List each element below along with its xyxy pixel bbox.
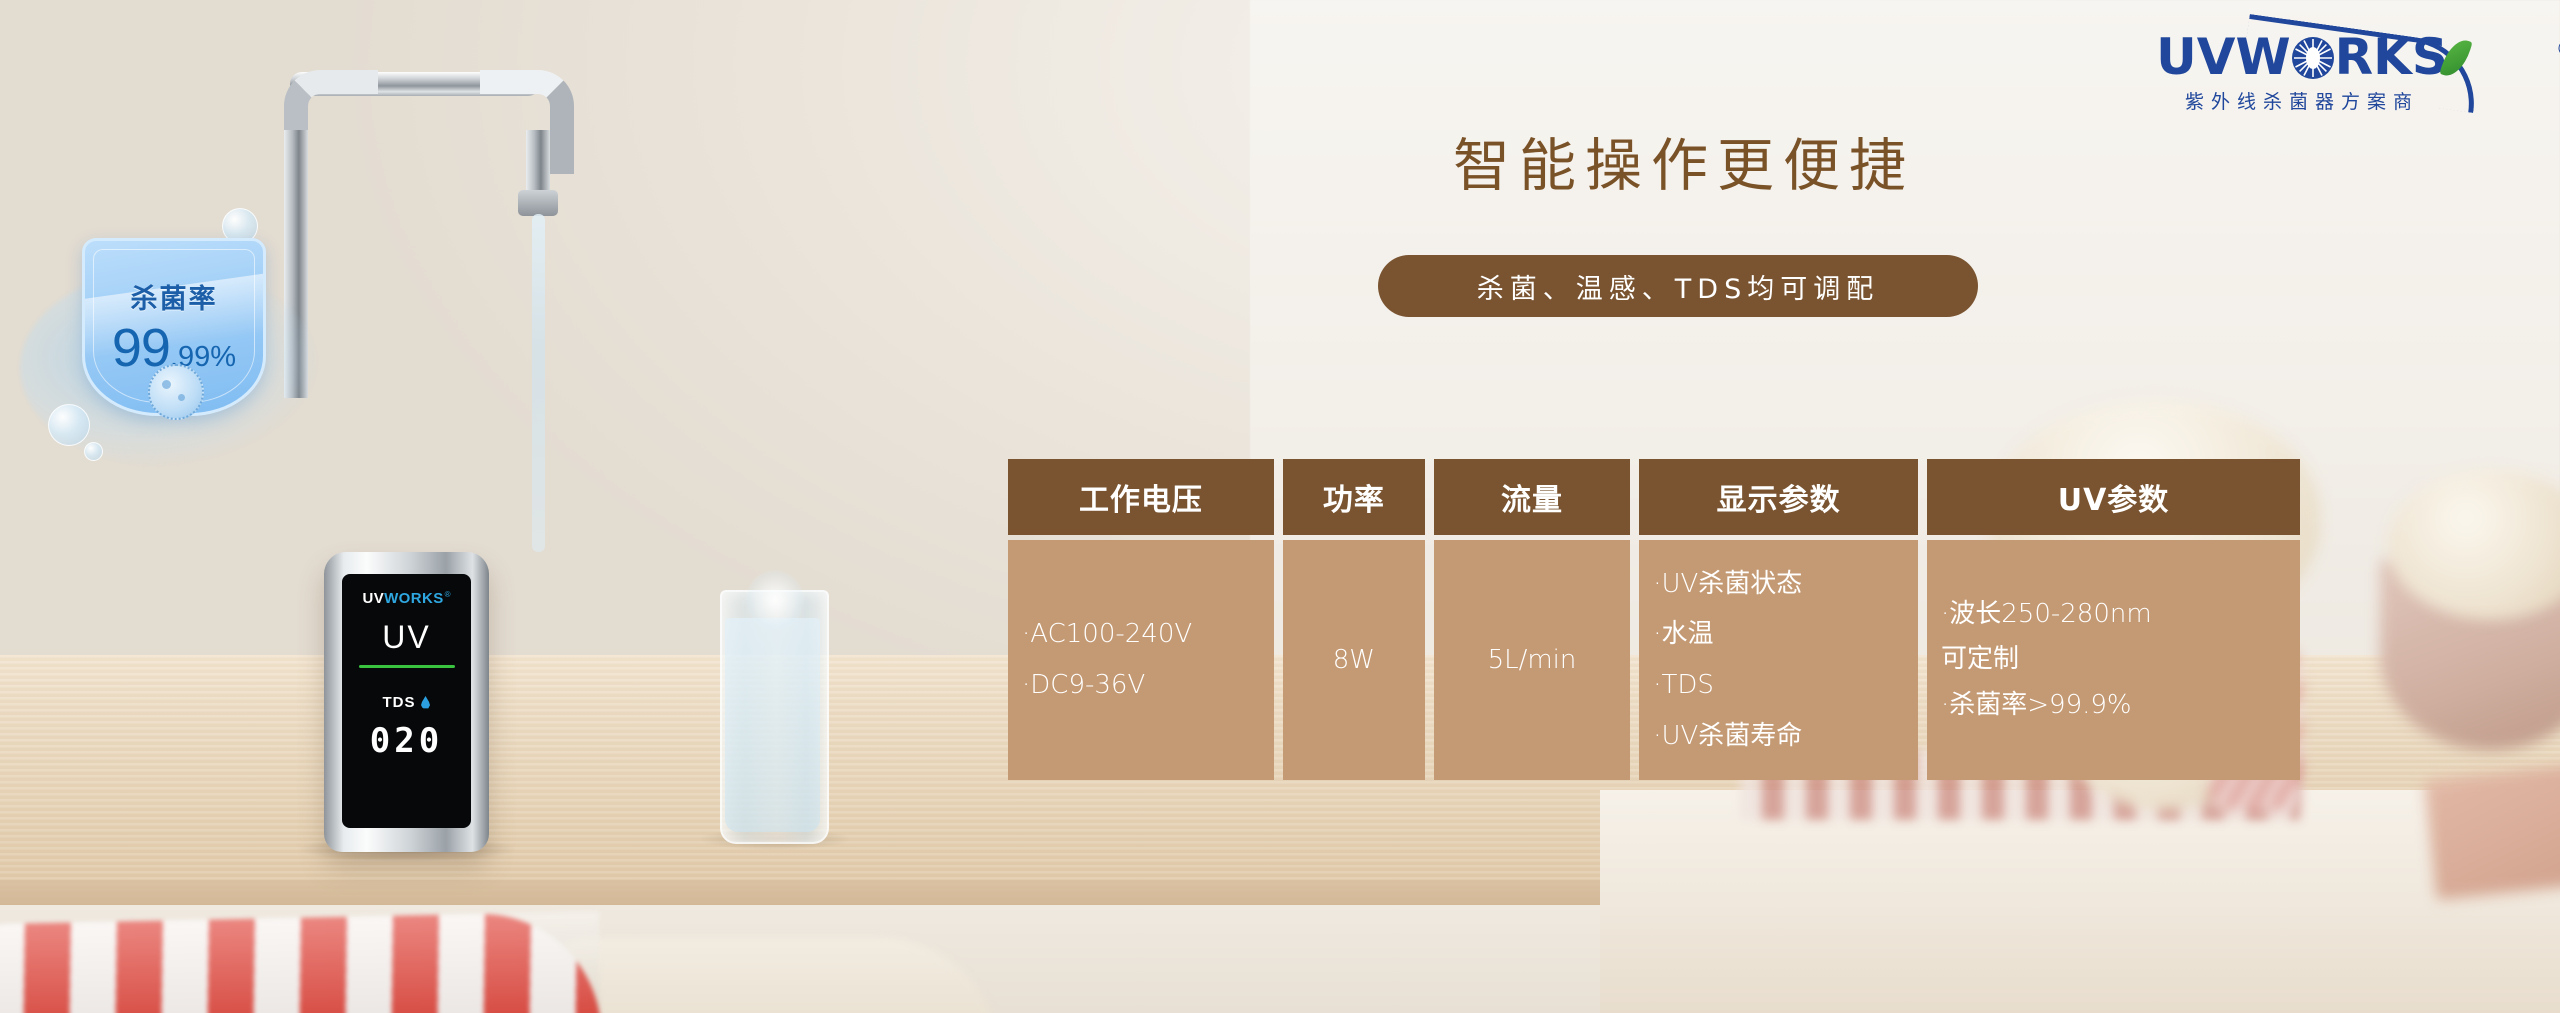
water-splash-icon bbox=[746, 570, 804, 630]
page-title: 智能操作更便捷 bbox=[1374, 120, 1994, 202]
brand-logo-text: UVWRKS bbox=[2156, 28, 2448, 86]
germ-icon bbox=[148, 364, 204, 420]
spec-line: ·波长250-280nm bbox=[1941, 592, 2286, 638]
spec-table: 工作电压 ·AC100-240V ·DC9-36V 功率 8W 流量 5L/mi… bbox=[1008, 459, 2300, 780]
spec-body: ·AC100-240V ·DC9-36V bbox=[1008, 540, 1274, 780]
device-brand-uv: UV bbox=[362, 590, 384, 607]
device-tds-value: 020 bbox=[370, 721, 443, 761]
water-stream-icon bbox=[532, 214, 545, 552]
spec-column-display: 显示参数 ·UV杀菌状态 ·水温 ·TDS ·UV杀菌寿命 bbox=[1639, 459, 1918, 780]
gooseneck-faucet-icon bbox=[290, 30, 690, 550]
spec-line: ·水温 bbox=[1653, 609, 1904, 660]
countertop-right bbox=[1600, 790, 2560, 1013]
spec-line: ·AC100-240V bbox=[1022, 609, 1260, 660]
badge-label: 杀菌率 bbox=[85, 277, 263, 316]
bubble-icon bbox=[84, 442, 103, 461]
spec-column-power: 功率 8W bbox=[1283, 459, 1425, 780]
checkered-cloth-icon bbox=[0, 912, 601, 1013]
spec-line: ·TDS bbox=[1653, 660, 1904, 711]
bubble-icon bbox=[48, 404, 90, 446]
spec-line: 5L/min bbox=[1488, 635, 1577, 686]
spec-header: 功率 bbox=[1283, 459, 1425, 535]
spec-column-uv: UV参数 ·波长250-280nm 可定制 ·杀菌率>99.9% bbox=[1927, 459, 2300, 780]
device-display-screen: UVWORKS ® UV TDS 020 bbox=[342, 574, 471, 828]
spec-line: ·杀菌率>99.9% bbox=[1941, 683, 2286, 729]
spec-line: ·DC9-36V bbox=[1022, 660, 1260, 711]
spec-line: 8W bbox=[1333, 635, 1375, 686]
faucet-nozzle bbox=[518, 190, 558, 216]
sterilization-rate-badge: 杀菌率 99.99% bbox=[40, 218, 300, 468]
uv-sterilizer-device: UVWORKS ® UV TDS 020 bbox=[324, 552, 489, 852]
glass-water bbox=[725, 618, 820, 832]
spec-body: ·UV杀菌状态 ·水温 ·TDS ·UV杀菌寿命 bbox=[1639, 540, 1918, 780]
banner-canvas: UVWORKS ® UV TDS 020 杀菌率 99.99% bbox=[0, 0, 2560, 1013]
spec-header: 流量 bbox=[1434, 459, 1630, 535]
spec-column-flow: 流量 5L/min bbox=[1434, 459, 1630, 780]
brand-logo-row: UVWRKS ® bbox=[2156, 32, 2448, 82]
device-status-line bbox=[359, 665, 455, 668]
wood-tiles-icon bbox=[2424, 760, 2560, 900]
subtitle-pill: 杀菌、温感、TDS均可调配 bbox=[1378, 255, 1978, 317]
spec-body: 8W bbox=[1283, 540, 1425, 780]
brand-logo-uv: UV bbox=[2156, 28, 2235, 86]
device-tds-row: TDS bbox=[383, 694, 431, 711]
spec-line: ·UV杀菌状态 bbox=[1653, 559, 1904, 610]
spec-line: 可定制 bbox=[1941, 637, 2286, 683]
badge-value-unit: % bbox=[210, 341, 236, 373]
uv-sunburst-icon bbox=[2291, 36, 2335, 80]
spec-column-voltage: 工作电压 ·AC100-240V ·DC9-36V bbox=[1008, 459, 1274, 780]
device-mode-label: UV bbox=[382, 619, 430, 656]
device-tds-label: TDS bbox=[383, 694, 416, 711]
spec-body: 5L/min bbox=[1434, 540, 1630, 780]
spec-line: ·UV杀菌寿命 bbox=[1653, 711, 1904, 762]
spec-header: UV参数 bbox=[1927, 459, 2300, 535]
brand-logo-w: W bbox=[2235, 28, 2290, 86]
spec-header: 显示参数 bbox=[1639, 459, 1918, 535]
spec-header: 工作电压 bbox=[1008, 459, 1274, 535]
device-brand-works: WORKS bbox=[384, 590, 444, 607]
device-brand-mark: ® bbox=[445, 590, 451, 599]
spec-body: ·波长250-280nm 可定制 ·杀菌率>99.9% bbox=[1927, 540, 2300, 780]
device-brand-logo: UVWORKS ® bbox=[362, 590, 450, 607]
water-drop-icon bbox=[421, 696, 431, 709]
brand-logo-rks: RKS bbox=[2335, 28, 2448, 86]
brand-logo: UVWRKS ® 紫外线杀菌器方案商 bbox=[2092, 32, 2512, 114]
